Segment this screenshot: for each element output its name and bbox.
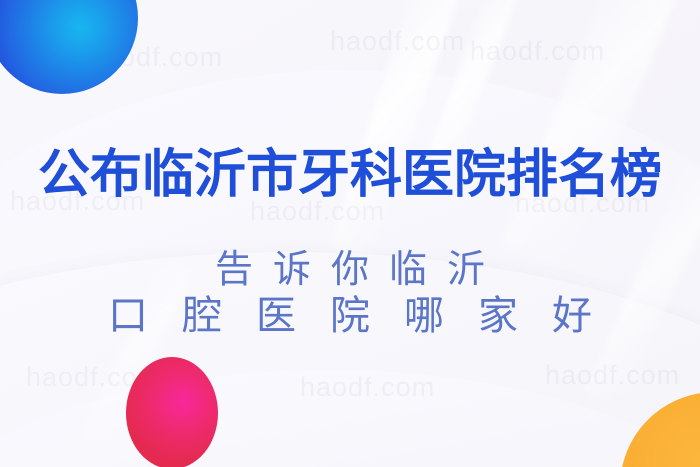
banner-main-title: 公布临沂市牙科医院排名榜 — [0, 146, 700, 204]
promo-banner: haodf.com haodf.com haodf.com haodf.com … — [0, 0, 700, 467]
banner-text-block: 公布临沂市牙科医院排名榜 告诉你临沂 口腔医院哪家好 — [0, 0, 700, 467]
banner-subtitle-line-1: 告诉你临沂 — [0, 249, 700, 291]
banner-subtitle-line-2: 口腔医院哪家好 — [0, 294, 700, 338]
